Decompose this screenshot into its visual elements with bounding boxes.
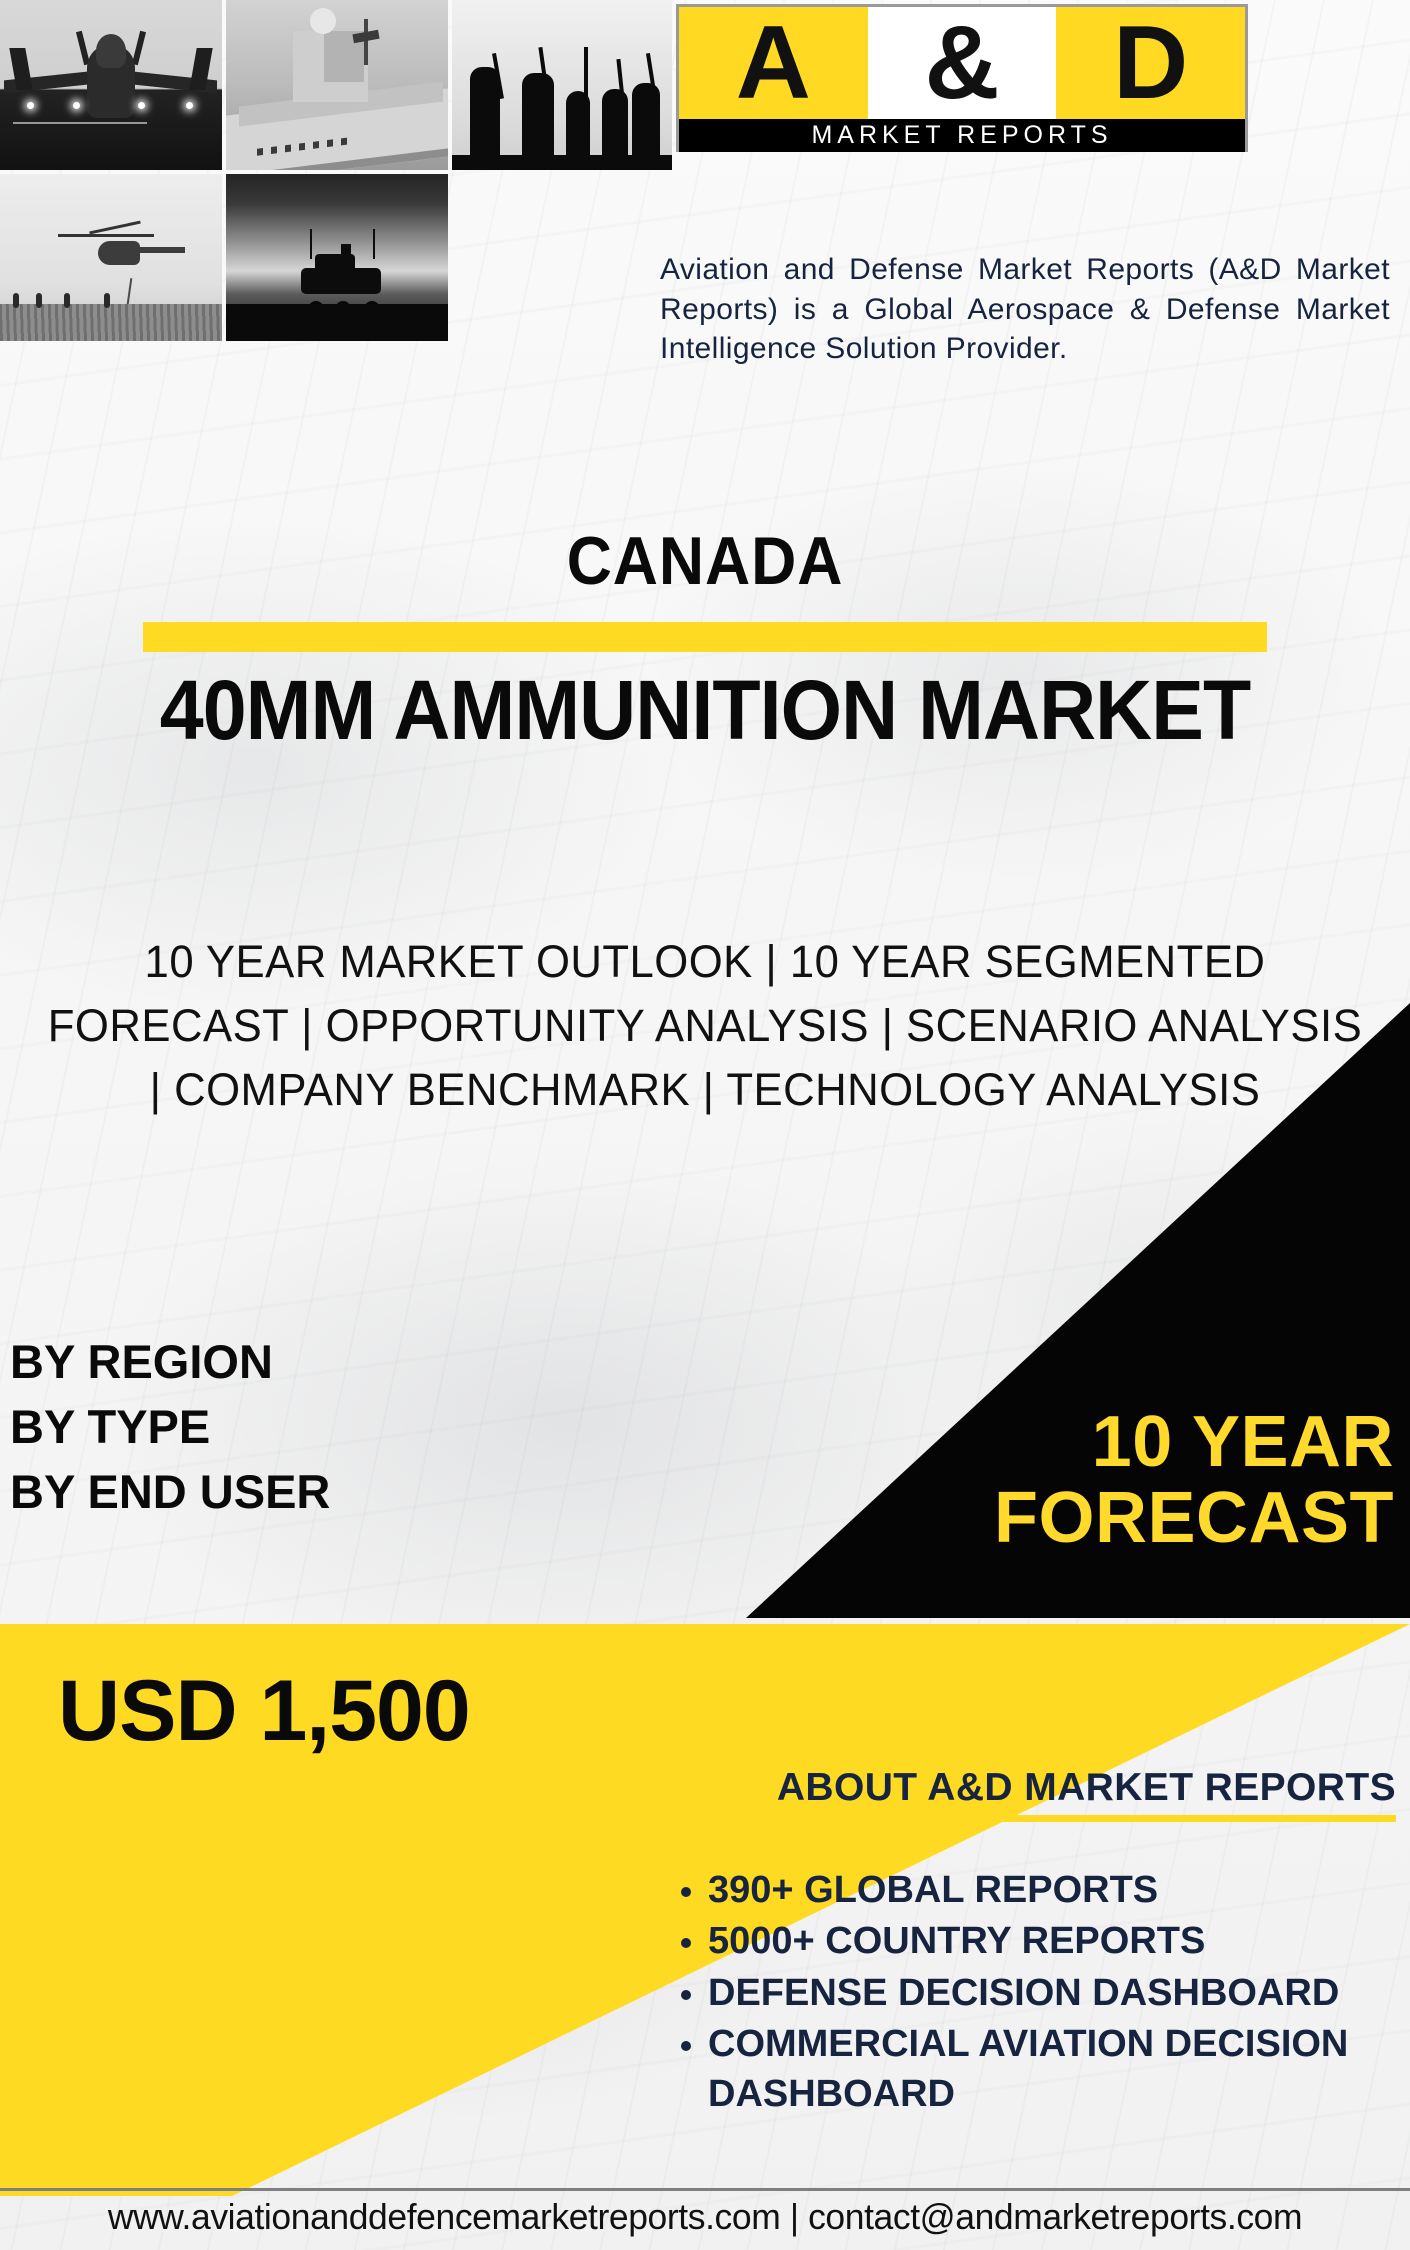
forecast-line-1: 10 YEAR <box>834 1405 1394 1481</box>
segment-item-end-user: BY END USER <box>10 1460 650 1525</box>
photo-warship <box>226 0 448 170</box>
footer-divider <box>0 2188 1410 2191</box>
country-title: CANADA <box>56 522 1353 600</box>
photo-armored-vehicle <box>226 174 448 341</box>
photo-soldiers <box>452 0 672 170</box>
list-item: COMMERCIAL AVIATION DECISION DASHBOARD <box>708 2020 1396 2119</box>
list-item: 5000+ COUNTRY REPORTS <box>708 1917 1396 1966</box>
price-label: USD 1,500 <box>58 1662 470 1761</box>
title-divider-bar <box>143 622 1267 652</box>
brand-logo: A & D MARKET REPORTS <box>676 4 1248 152</box>
about-section: ABOUT A&D MARKET REPORTS 390+ GLOBAL REP… <box>656 1766 1396 2121</box>
list-item: DEFENSE DECISION DASHBOARD <box>708 1969 1396 2018</box>
about-bullet-list: 390+ GLOBAL REPORTS 5000+ COUNTRY REPORT… <box>656 1866 1396 2119</box>
logo-market-reports-bar: MARKET REPORTS <box>679 119 1245 152</box>
segment-item-type: BY TYPE <box>10 1395 650 1460</box>
photo-fighter-jet <box>0 0 222 170</box>
list-item: 390+ GLOBAL REPORTS <box>708 1866 1396 1915</box>
photo-helicopter <box>0 174 222 341</box>
forecast-line-2: FORECAST <box>834 1481 1394 1557</box>
segment-item-region: BY REGION <box>10 1330 650 1395</box>
about-underline <box>656 1815 1396 1822</box>
company-intro-text: Aviation and Defense Market Reports (A&D… <box>660 250 1390 369</box>
about-heading: ABOUT A&D MARKET REPORTS <box>656 1766 1396 1810</box>
logo-letter-d: D <box>1056 7 1245 119</box>
feature-list-text: 10 YEAR MARKET OUTLOOK | 10 YEAR SEGMENT… <box>42 930 1367 1122</box>
forecast-badge: 10 YEAR FORECAST <box>834 1405 1394 1556</box>
poster-root: A & D MARKET REPORTS Aviation and Defens… <box>0 0 1410 2250</box>
logo-ampersand: & <box>868 7 1057 119</box>
segmentation-list: BY REGION BY TYPE BY END USER <box>10 1330 650 1525</box>
logo-letter-a: A <box>679 7 868 119</box>
photo-grid <box>0 0 672 341</box>
footer-contact[interactable]: www.aviationanddefencemarketreports.com … <box>11 2196 1400 2238</box>
market-title: 40MM AMMUNITION MARKET <box>42 662 1367 759</box>
